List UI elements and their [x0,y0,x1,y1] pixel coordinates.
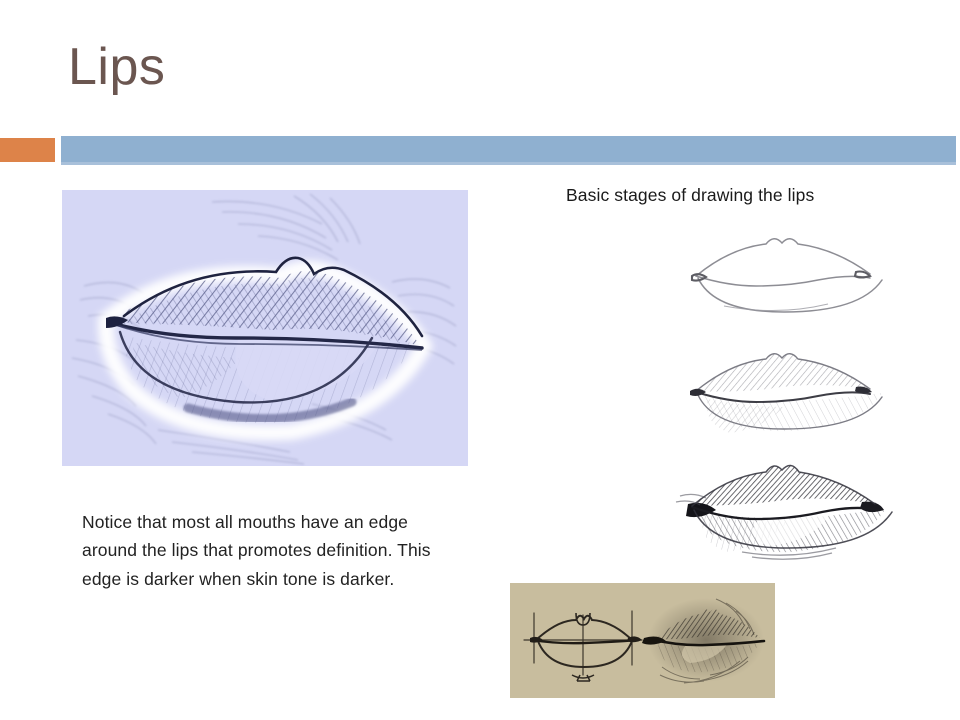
stage-outline-image [664,228,914,328]
page-title: Lips [68,40,165,95]
title-divider [0,136,960,162]
divider-accent-block [0,138,55,162]
shaded-lips-sketch-image [62,190,468,466]
vintage-lips-construction-plate-image [510,583,775,698]
divider-bar [61,136,956,162]
body-paragraph: Notice that most all mouths have an edge… [82,508,442,593]
stage-light-shading-image [664,345,914,445]
stage-full-rendering-image [664,462,914,562]
divider-bar-shadow [61,162,956,165]
stages-caption: Basic stages of drawing the lips [566,185,814,206]
